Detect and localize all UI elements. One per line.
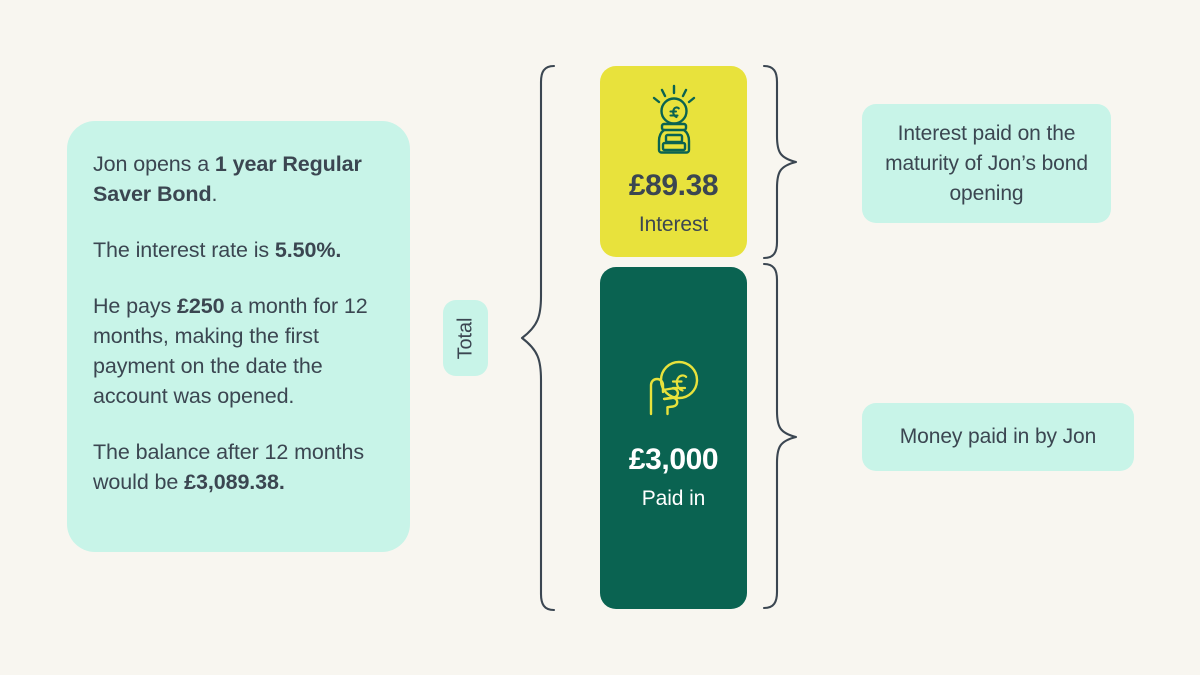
hand-holding-coin-icon xyxy=(643,356,705,423)
callout-paid-in: Money paid in by Jon xyxy=(862,403,1134,471)
paid-in-brace xyxy=(760,259,808,613)
info-paragraph-1: Jon opens a 1 year Regular Saver Bond. xyxy=(93,149,386,209)
interest-amount: £89.38 xyxy=(629,171,718,201)
callout-paid-in-text: Money paid in by Jon xyxy=(900,423,1096,451)
callout-interest-text: Interest paid on the maturity of Jon’s b… xyxy=(874,119,1099,209)
bar-segment-interest: £89.38 Interest xyxy=(600,66,747,257)
infographic-canvas: Jon opens a 1 year Regular Saver Bond. T… xyxy=(0,0,1200,675)
paid-in-amount: £3,000 xyxy=(629,445,718,475)
money-jar-icon xyxy=(645,84,703,159)
info-paragraph-2: The interest rate is 5.50%. xyxy=(93,235,386,265)
total-label-text: Total xyxy=(454,317,477,359)
info-panel: Jon opens a 1 year Regular Saver Bond. T… xyxy=(67,121,410,552)
paid-in-caption: Paid in xyxy=(642,488,706,509)
callout-interest: Interest paid on the maturity of Jon’s b… xyxy=(862,104,1111,223)
interest-brace xyxy=(760,60,808,264)
bar-segment-paid-in: £3,000 Paid in xyxy=(600,267,747,609)
total-brace xyxy=(508,60,564,616)
info-paragraph-3: He pays £250 a month for 12 months, maki… xyxy=(93,291,386,411)
interest-caption: Interest xyxy=(639,214,708,235)
total-label: Total xyxy=(443,300,488,376)
info-paragraph-4: The balance after 12 months would be £3,… xyxy=(93,437,386,497)
